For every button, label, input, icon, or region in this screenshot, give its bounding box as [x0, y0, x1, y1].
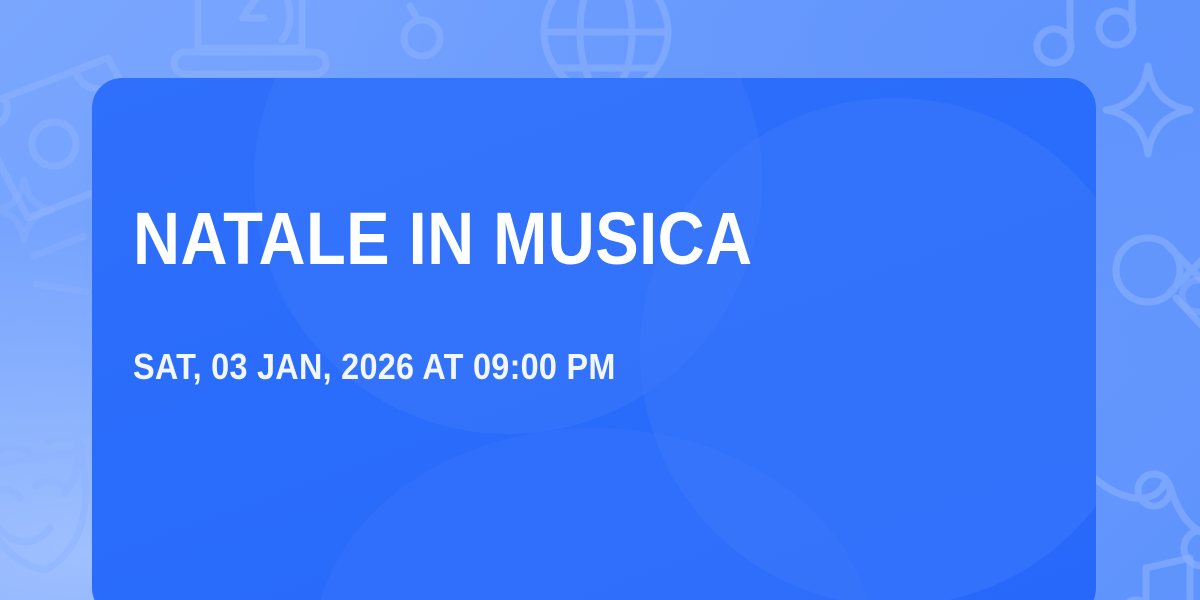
event-card-content: NATALE IN MUSICA SAT, 03 JAN, 2026 AT 09… — [133, 78, 1056, 600]
music-note-icon — [1018, 0, 1168, 82]
music-notes-icon — [1092, 436, 1200, 586]
ring-icon — [382, 0, 462, 74]
ring-icon — [1178, 268, 1200, 328]
event-datetime: SAT, 03 JAN, 2026 AT 09:00 PM — [133, 346, 616, 388]
microphone-icon — [1110, 228, 1200, 378]
sparkle-small-icon — [0, 168, 60, 248]
dash-stroke-icon — [28, 228, 98, 268]
event-banner: NATALE IN MUSICA SAT, 03 JAN, 2026 AT 09… — [0, 0, 1200, 600]
sparkle-icon — [1096, 52, 1200, 172]
music-note-icon — [1120, 556, 1200, 600]
event-title: NATALE IN MUSICA — [133, 199, 753, 279]
event-card: NATALE IN MUSICA SAT, 03 JAN, 2026 AT 09… — [92, 78, 1096, 600]
dash-stroke-icon — [30, 268, 100, 308]
